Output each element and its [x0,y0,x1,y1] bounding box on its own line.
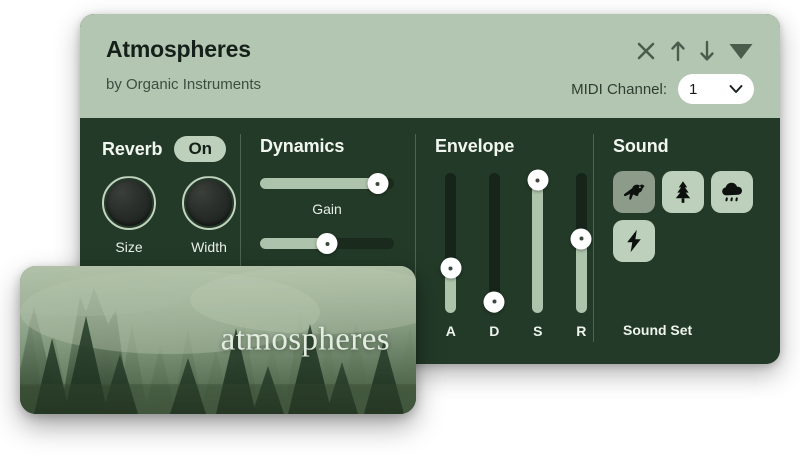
sound-title: Sound [613,136,780,157]
sound-button-grid [613,171,753,262]
decay-slider[interactable] [489,173,500,313]
knob-size-label: Size [115,239,142,255]
reverb-title: Reverb [102,139,162,160]
sound-button-lightning[interactable] [613,220,655,262]
knob-body [186,180,232,226]
chevron-down-icon [729,84,743,94]
knob-width-dial[interactable] [182,176,236,230]
collapse-triangle-icon[interactable] [728,41,754,61]
reverb-header: Reverb On [102,136,240,162]
artwork-overlay-card[interactable]: atmospheres [20,266,416,414]
rain-cloud-icon [719,179,745,205]
sustain-slider[interactable] [532,173,543,313]
artwork-title: atmospheres [221,322,390,359]
arrow-down-icon[interactable] [699,40,715,62]
lightning-bolt-icon [621,228,647,254]
sound-set-label: Sound Set [623,322,692,338]
attack-label: A [446,323,456,339]
midi-channel-value: 1 [689,81,697,98]
reverb-on-toggle[interactable]: On [174,136,226,162]
attack-slider[interactable] [445,173,456,313]
plugin-header: Atmospheres by Organic Instruments MIDI … [80,14,780,118]
gain-label: Gain [260,201,394,217]
slider-thumb[interactable] [484,291,505,312]
gain-slider[interactable] [260,235,394,251]
slider-thumb[interactable] [440,258,461,279]
bird-icon [621,179,647,205]
slider-thumb[interactable] [317,233,338,254]
close-icon[interactable] [635,40,657,62]
envelope-release[interactable]: R [570,173,594,339]
slider-fill [260,178,378,189]
sound-button-rain[interactable] [711,171,753,213]
midi-channel-row: MIDI Channel: 1 [571,74,754,104]
knob-width[interactable]: Width [182,176,236,255]
dynamics-title: Dynamics [260,136,415,157]
knob-size[interactable]: Size [102,176,156,255]
section-sound: Sound [593,118,780,364]
midi-channel-label: MIDI Channel: [571,81,667,98]
sustain-label: S [533,323,542,339]
adsr-slider-group: A D [435,173,593,339]
release-label: R [576,323,586,339]
slider-fill [532,180,543,313]
header-icon-group [635,40,754,62]
reverb-knob-row: Size Width [102,176,240,255]
section-envelope: Envelope A [415,118,593,364]
knob-size-dial[interactable] [102,176,156,230]
release-slider[interactable] [576,173,587,313]
slider-thumb[interactable] [527,170,548,191]
app-root: Atmospheres by Organic Instruments MIDI … [0,0,800,456]
envelope-attack[interactable]: A [439,173,463,339]
slider-thumb[interactable] [571,228,592,249]
dynamics-top-slider[interactable] [260,175,394,191]
arrow-up-icon[interactable] [670,40,686,62]
midi-channel-select[interactable]: 1 [678,74,754,104]
decay-label: D [489,323,499,339]
sound-button-tree[interactable] [662,171,704,213]
slider-thumb[interactable] [367,173,388,194]
envelope-decay[interactable]: D [483,173,507,339]
knob-body [106,180,152,226]
tree-icon [670,179,696,205]
envelope-sustain[interactable]: S [526,173,550,339]
slider-fill [576,239,587,313]
knob-width-label: Width [191,239,227,255]
envelope-title: Envelope [435,136,593,157]
sound-button-bird[interactable] [613,171,655,213]
